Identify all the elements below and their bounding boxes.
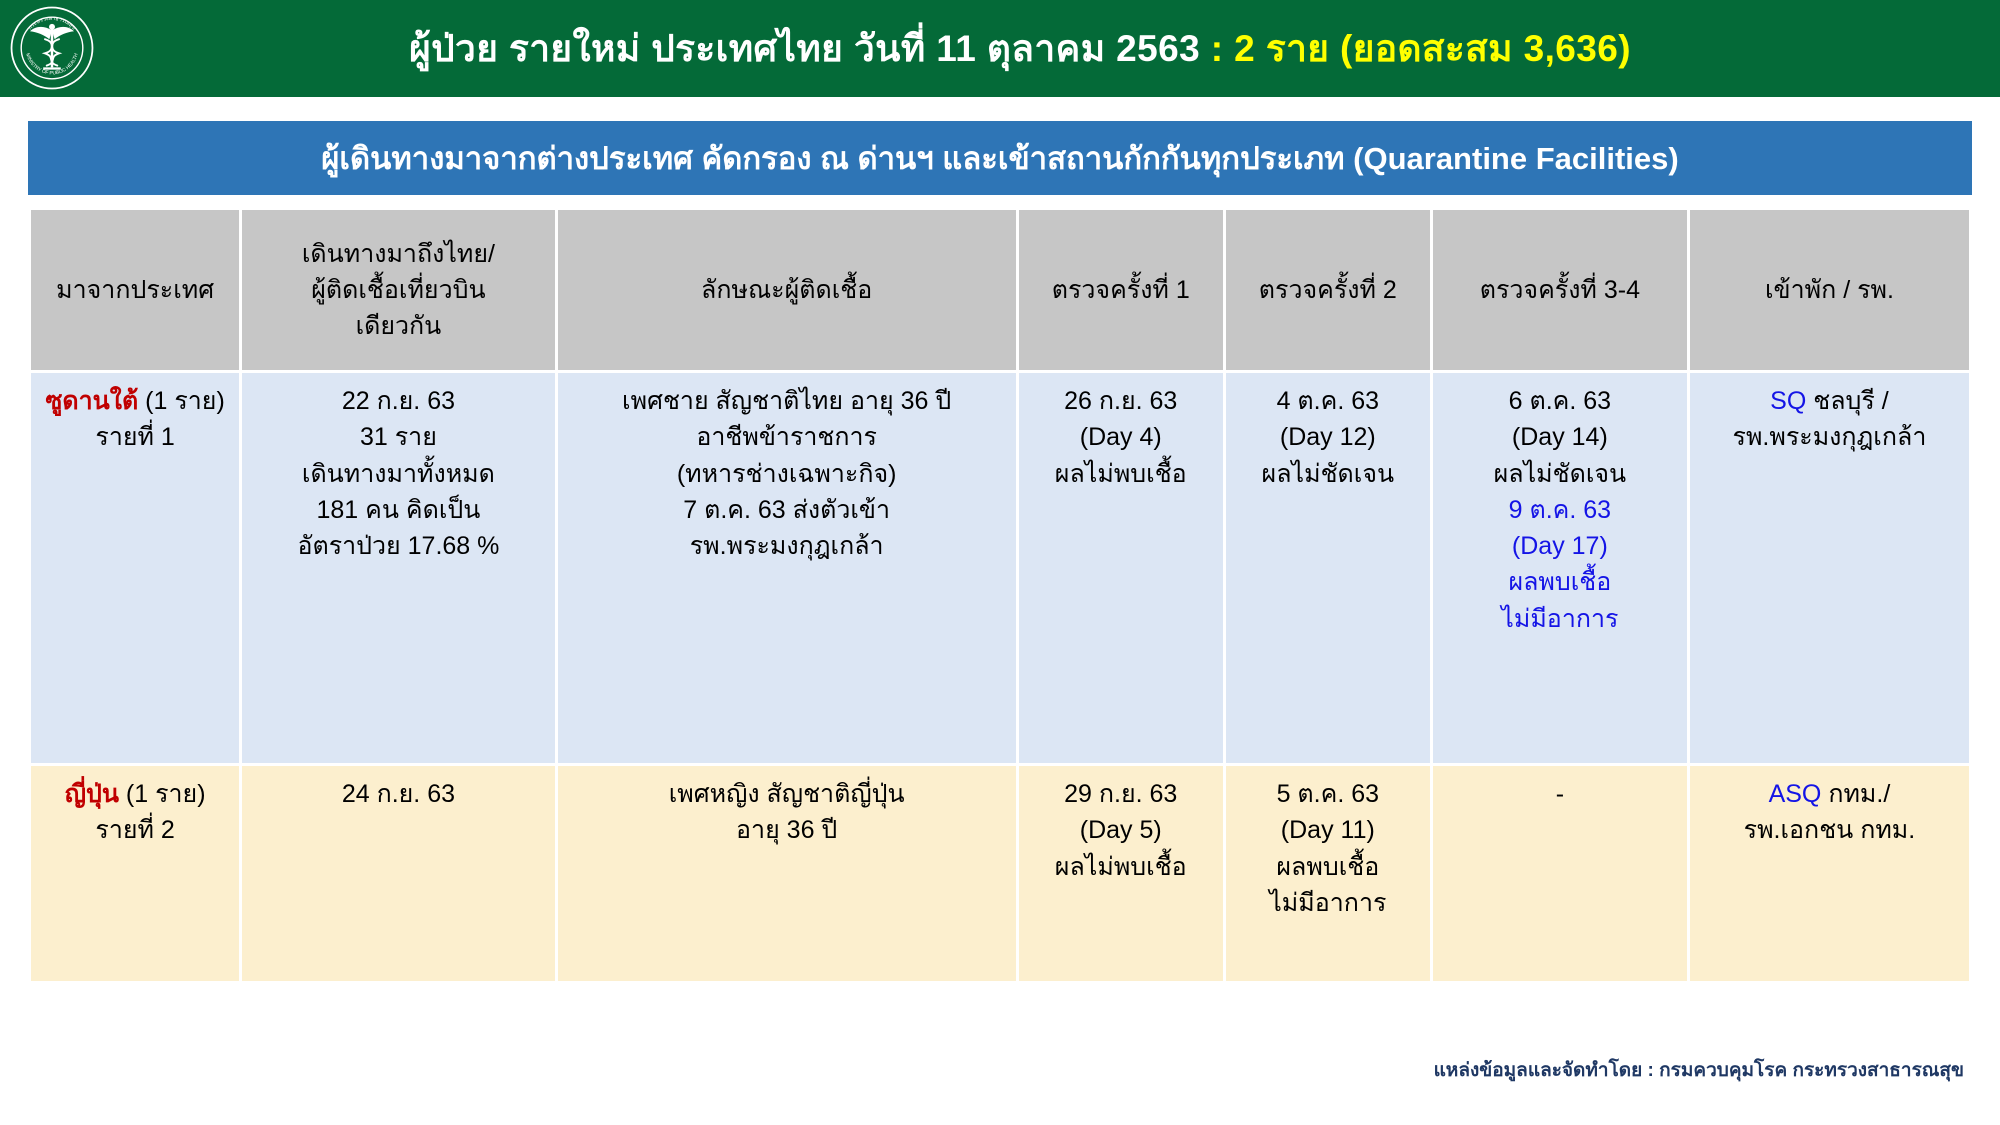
section-title-bar: ผู้เดินทางมาจากต่างประเทศ คัดกรอง ณ ด่าน… xyxy=(28,121,1972,195)
cell-case-profile: เพศชาย สัญชาติไทย อายุ 36 ปีอาชีพข้าราชก… xyxy=(558,373,1016,763)
country-name: ญี่ปุ่น xyxy=(65,780,119,808)
cell-test-1: 29 ก.ย. 63(Day 5)ผลไม่พบเชื้อ xyxy=(1019,766,1223,981)
quarantine-cases-table: มาจากประเทศ เดินทางมาถึงไทย/ผู้ติดเชื้อเ… xyxy=(28,207,1972,984)
page-title-highlight: : 2 ราย (ยอดสะสม 3,636) xyxy=(1211,28,1631,69)
column-header-case-profile: ลักษณะผู้ติดเชื้อ xyxy=(558,210,1016,370)
cell-test-3-4: - xyxy=(1433,766,1687,981)
column-header-test-1: ตรวจครั้งที่ 1 xyxy=(1019,210,1223,370)
cell-test-2: 5 ต.ค. 63(Day 11)ผลพบเชื้อไม่มีอาการ xyxy=(1226,766,1430,981)
table-row: ญี่ปุ่น (1 ราย) รายที่ 2 24 ก.ย. 63 เพศห… xyxy=(31,766,1969,981)
cell-arrival: 22 ก.ย. 6331 รายเดินทางมาทั้งหมด181 คน ค… xyxy=(242,373,554,763)
cell-test-1: 26 ก.ย. 63(Day 4)ผลไม่พบเชื้อ xyxy=(1019,373,1223,763)
test-3-result: 6 ต.ค. 63(Day 14)ผลไม่ชัดเจน xyxy=(1441,383,1679,492)
case-number: รายที่ 2 xyxy=(39,812,231,848)
cell-case-profile: เพศหญิง สัญชาติญี่ปุ่นอายุ 36 ปี xyxy=(558,766,1016,981)
accommodation-type: SQ xyxy=(1770,387,1806,415)
column-header-test-3-4: ตรวจครั้งที่ 3-4 xyxy=(1433,210,1687,370)
cell-arrival: 24 ก.ย. 63 xyxy=(242,766,554,981)
cell-country: ญี่ปุ่น (1 ราย) รายที่ 2 xyxy=(31,766,239,981)
cell-test-3-4: 6 ต.ค. 63(Day 14)ผลไม่ชัดเจน 9 ต.ค. 63(D… xyxy=(1433,373,1687,763)
source-credit: แหล่งข้อมูลและจัดทำโดย : กรมควบคุมโรค กร… xyxy=(1434,1055,1964,1085)
top-banner: กระทรวงสาธารณสุข MINISTRY OF PUBLIC HEAL… xyxy=(0,0,2000,97)
cell-test-2: 4 ต.ค. 63(Day 12)ผลไม่ชัดเจน xyxy=(1226,373,1430,763)
section-title-text: ผู้เดินทางมาจากต่างประเทศ คัดกรอง ณ ด่าน… xyxy=(321,133,1678,183)
column-header-country: มาจากประเทศ xyxy=(31,210,239,370)
cell-accommodation: SQ ชลบุรี /รพ.พระมงกุฎเกล้า xyxy=(1690,373,1969,763)
case-number: รายที่ 1 xyxy=(39,419,231,455)
table-header-row: มาจากประเทศ เดินทางมาถึงไทย/ผู้ติดเชื้อเ… xyxy=(31,210,1969,370)
column-header-accommodation: เข้าพัก / รพ. xyxy=(1690,210,1969,370)
country-count: (1 ราย) xyxy=(119,780,206,808)
column-header-test-2: ตรวจครั้งที่ 2 xyxy=(1226,210,1430,370)
ministry-of-public-health-seal-icon: กระทรวงสาธารณสุข MINISTRY OF PUBLIC HEAL… xyxy=(8,4,96,92)
page-title: ผู้ป่วย รายใหม่ ประเทศไทย วันที่ 11 ตุลา… xyxy=(409,19,1631,78)
cell-country: ซูดานใต้ (1 ราย) รายที่ 1 xyxy=(31,373,239,763)
cell-accommodation: ASQ กทม./รพ.เอกชน กทม. xyxy=(1690,766,1969,981)
table-row: ซูดานใต้ (1 ราย) รายที่ 1 22 ก.ย. 6331 ร… xyxy=(31,373,1969,763)
test-4-result: 9 ต.ค. 63(Day 17)ผลพบเชื้อไม่มีอาการ xyxy=(1441,492,1679,637)
accommodation-type: ASQ xyxy=(1769,780,1822,808)
page-title-main: ผู้ป่วย รายใหม่ ประเทศไทย วันที่ 11 ตุลา… xyxy=(409,28,1211,69)
column-header-arrival: เดินทางมาถึงไทย/ผู้ติดเชื้อเที่ยวบินเดีย… xyxy=(242,210,554,370)
country-count: (1 ราย) xyxy=(138,387,225,415)
accommodation-detail: ชลบุรี /รพ.พระมงกุฎเกล้า xyxy=(1733,387,1927,451)
country-name: ซูดานใต้ xyxy=(45,387,138,415)
